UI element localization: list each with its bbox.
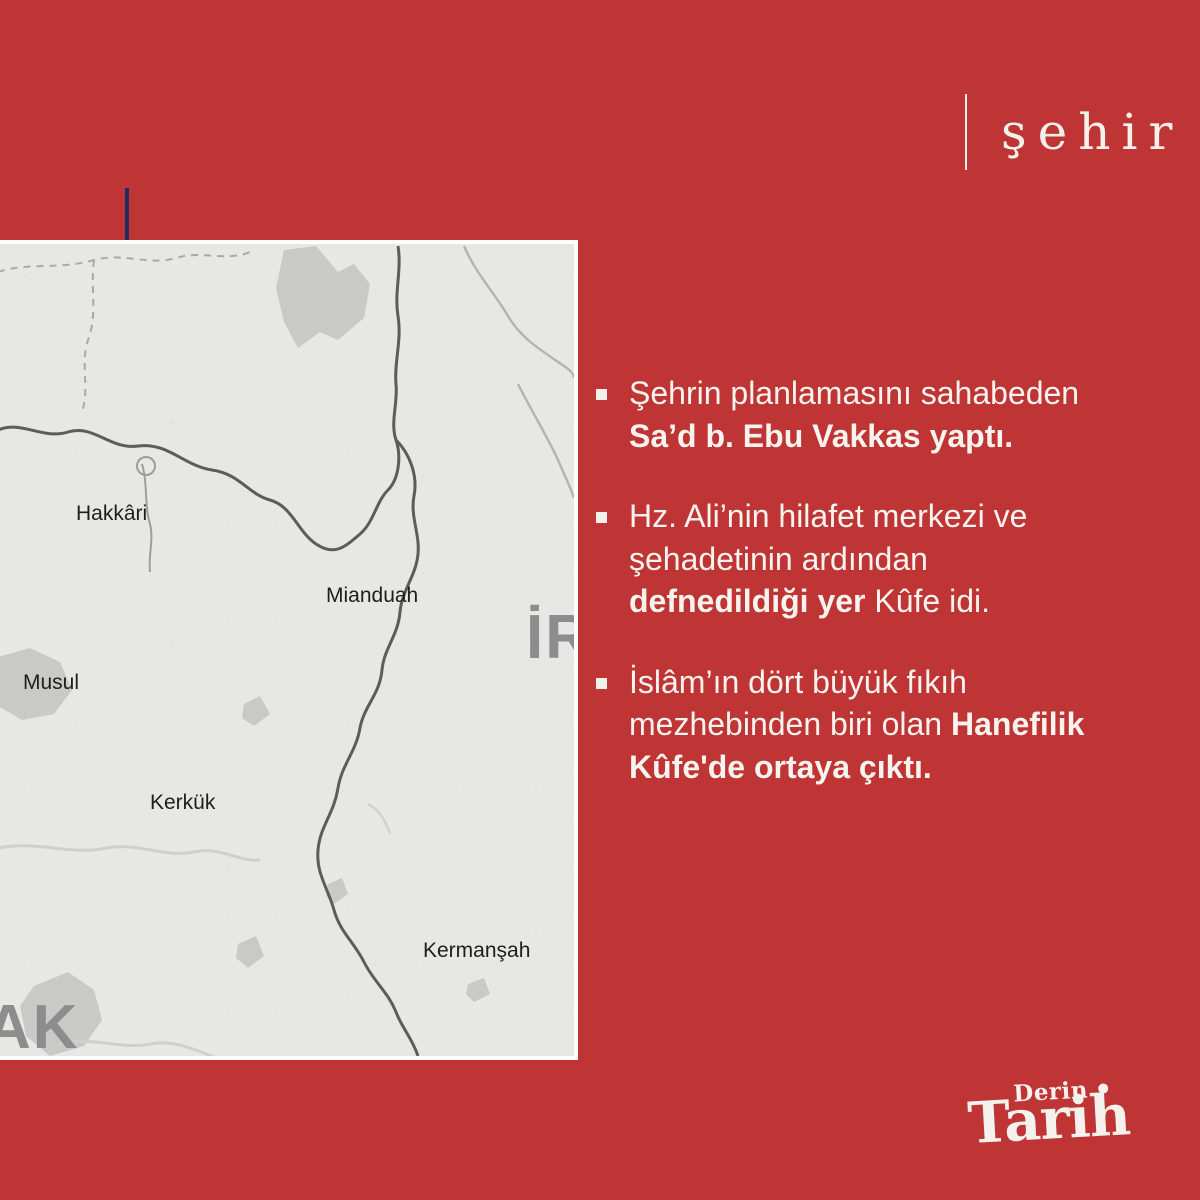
- bullet-1-strong: Sa’d b. Ebu Vakkas yaptı.: [629, 418, 1013, 454]
- navy-accent-tick: [125, 188, 129, 243]
- map-geometry: [0, 244, 574, 1056]
- map-panel[interactable]: AK İR Hakkâri Mianduah Musul Kerkük Kerm…: [0, 240, 578, 1060]
- bullet-3-lead: İslâm’ın dört büyük fıkıh mezhebinden bi…: [629, 664, 967, 743]
- map-label-kermansah: Kermanşah: [423, 939, 530, 963]
- map-canvas[interactable]: AK İR Hakkâri Mianduah Musul Kerkük Kerm…: [0, 244, 574, 1056]
- bullet-text-1: Şehrin planlamasını sahabeden Sa’d b. Eb…: [629, 372, 1096, 457]
- brand-logo: Tarih Derin: [958, 1072, 1163, 1171]
- map-label-musul: Musul: [23, 671, 79, 695]
- bullet-2-strong: defnedildiği yer: [629, 583, 865, 619]
- list-item: Şehrin planlamasını sahabeden Sa’d b. Eb…: [596, 372, 1096, 457]
- map-country-label-irak: AK: [0, 992, 80, 1056]
- bullet-text-2: Hz. Ali’nin hilafet merkezi ve şehadetin…: [629, 495, 1096, 623]
- header-divider-rule: [965, 94, 967, 170]
- bullet-2-lead: Hz. Ali’nin hilafet merkezi ve şehadetin…: [629, 498, 1027, 577]
- header-brand: şehir: [965, 92, 1183, 172]
- logo-derin-wordmark: Derin: [1013, 1078, 1089, 1105]
- bullet-text-3: İslâm’ın dört büyük fıkıh mezhebinden bi…: [629, 661, 1096, 789]
- bullet-square-icon: [596, 678, 607, 689]
- bullet-2-tail: Kûfe idi.: [865, 583, 990, 619]
- bullet-square-icon: [596, 512, 607, 523]
- list-item: İslâm’ın dört büyük fıkıh mezhebinden bi…: [596, 661, 1096, 789]
- map-country-label-iran: İR: [526, 602, 574, 673]
- bullet-list: Şehrin planlamasını sahabeden Sa’d b. Eb…: [596, 372, 1096, 826]
- list-item: Hz. Ali’nin hilafet merkezi ve şehadetin…: [596, 495, 1096, 623]
- bullet-square-icon: [596, 389, 607, 400]
- map-label-mianduah: Mianduah: [326, 584, 418, 608]
- page-title: şehir: [1001, 107, 1183, 157]
- map-label-kerkuk: Kerkük: [150, 791, 215, 815]
- bullet-1-lead: Şehrin planlamasını sahabeden: [629, 375, 1079, 411]
- map-label-hakkari: Hakkâri: [76, 502, 147, 526]
